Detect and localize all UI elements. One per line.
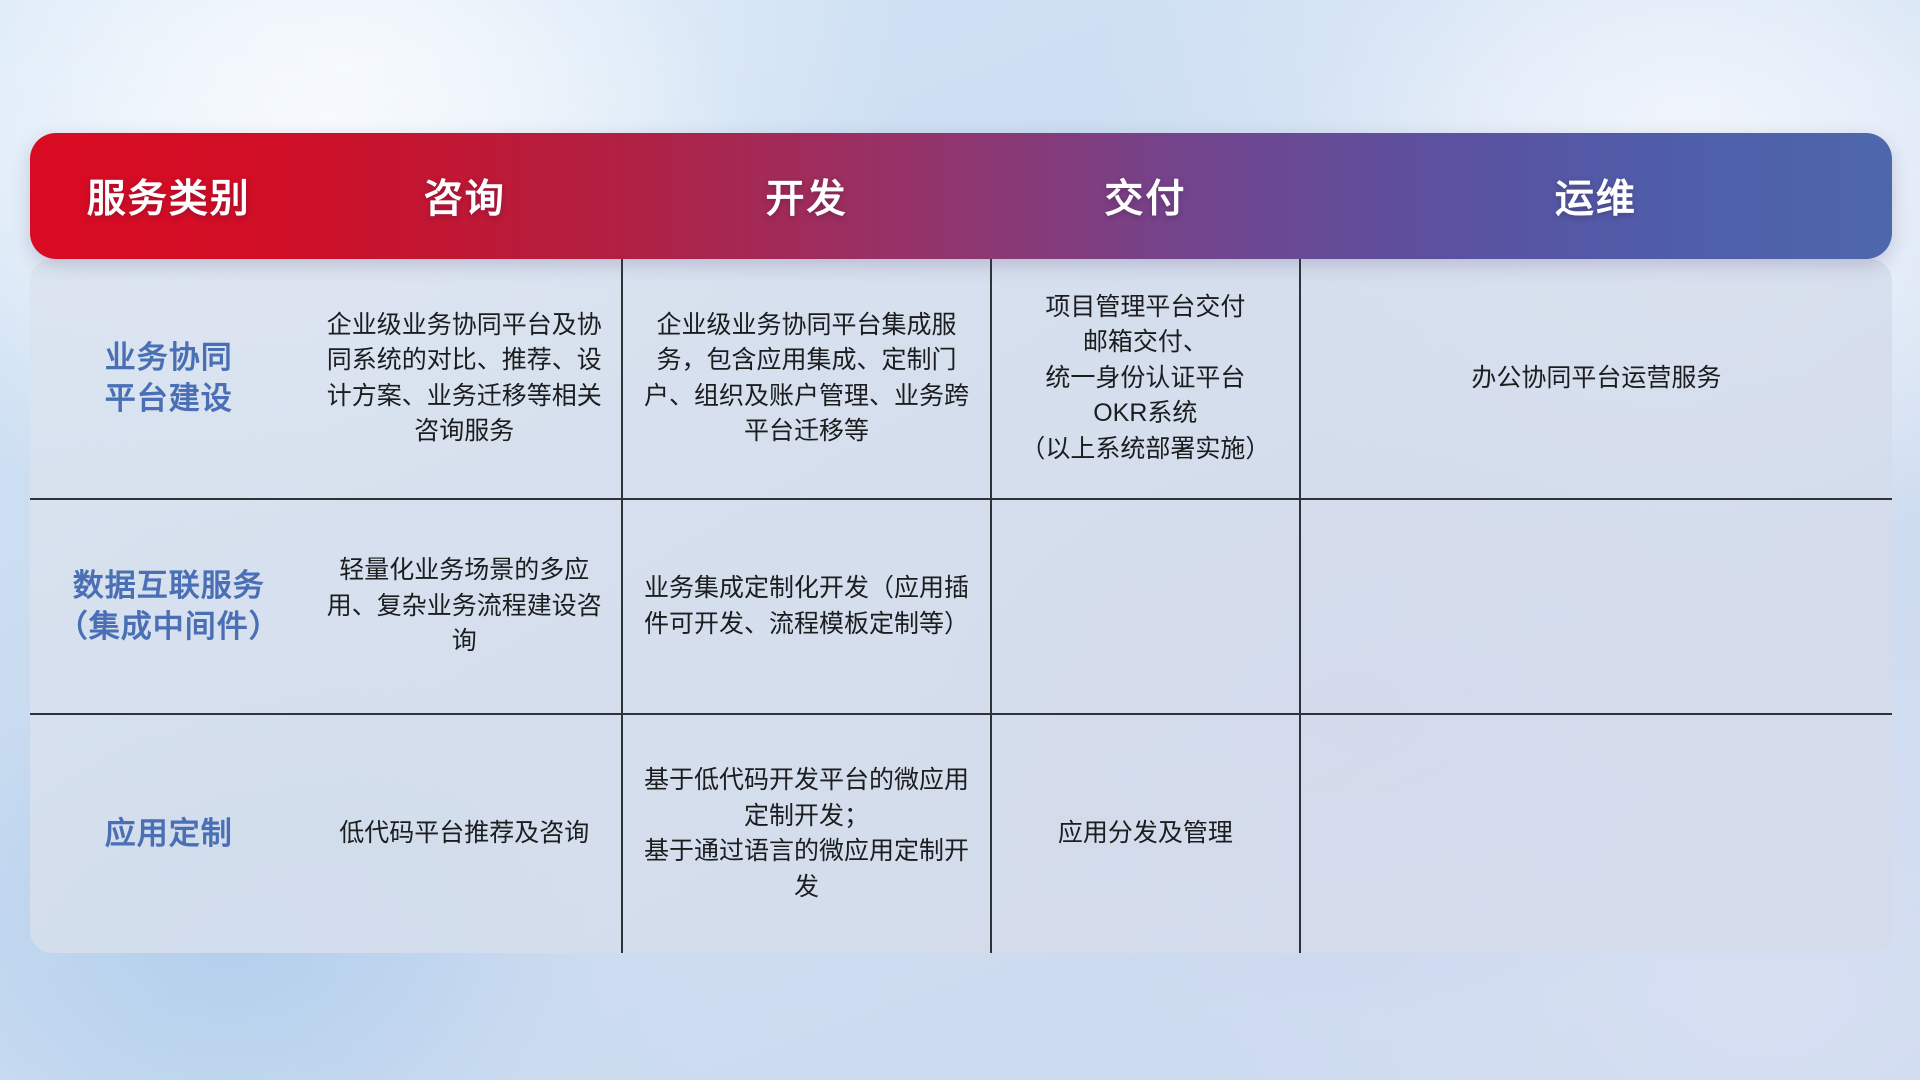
cell-delivery: 项目管理平台交付 邮箱交付、 统一身份认证平台 OKR系统 （以上系统部署实施） bbox=[991, 259, 1300, 499]
table-row: 业务协同 平台建设 企业级业务协同平台及协同系统的对比、推荐、设计方案、业务迁移… bbox=[30, 259, 1892, 499]
cell-development: 企业级业务协同平台集成服务，包含应用集成、定制门户、组织及账户管理、业务跨平台迁… bbox=[622, 259, 991, 499]
delivery-line: OKR系统 bbox=[1008, 396, 1283, 432]
column-header-operations: 运维 bbox=[1300, 133, 1892, 259]
table-row: 数据互联服务 （集成中间件） 轻量化业务场景的多应用、复杂业务流程建设咨询 业务… bbox=[30, 499, 1892, 714]
category-line: 业务协同 bbox=[46, 338, 291, 379]
cell-operations bbox=[1300, 714, 1892, 953]
cell-consulting: 企业级业务协同平台及协同系统的对比、推荐、设计方案、业务迁移等相关咨询服务 bbox=[307, 259, 622, 499]
service-matrix-table: 服务类别 咨询 开发 交付 运维 业务协同 平台建设 企业级业务协同平台及协同系… bbox=[30, 133, 1892, 953]
cell-operations bbox=[1300, 499, 1892, 714]
delivery-line: 项目管理平台交付 bbox=[1008, 290, 1283, 326]
cell-development: 基于低代码开发平台的微应用定制开发； 基于通过语言的微应用定制开发 bbox=[622, 714, 991, 953]
development-line: 基于低代码开发平台的微应用定制开发； bbox=[639, 763, 974, 834]
cell-operations: 办公协同平台运营服务 bbox=[1300, 259, 1892, 499]
category-line: （集成中间件） bbox=[46, 607, 291, 648]
row-category-label: 业务协同 平台建设 bbox=[30, 259, 307, 499]
service-matrix-panel: 服务类别 咨询 开发 交付 运维 业务协同 平台建设 企业级业务协同平台及协同系… bbox=[30, 133, 1892, 953]
table-header-row: 服务类别 咨询 开发 交付 运维 bbox=[30, 133, 1892, 259]
table-row: 应用定制 低代码平台推荐及咨询 基于低代码开发平台的微应用定制开发； 基于通过语… bbox=[30, 714, 1892, 953]
cell-delivery bbox=[991, 499, 1300, 714]
delivery-line: 应用分发及管理 bbox=[1008, 816, 1283, 852]
column-header-consulting: 咨询 bbox=[307, 133, 622, 259]
cell-development: 业务集成定制化开发（应用插件可开发、流程模板定制等） bbox=[622, 499, 991, 714]
development-line: 基于通过语言的微应用定制开发 bbox=[639, 834, 974, 905]
column-header-delivery: 交付 bbox=[991, 133, 1300, 259]
column-header-category: 服务类别 bbox=[30, 133, 307, 259]
cell-consulting: 低代码平台推荐及咨询 bbox=[307, 714, 622, 953]
table-body: 业务协同 平台建设 企业级业务协同平台及协同系统的对比、推荐、设计方案、业务迁移… bbox=[30, 259, 1892, 953]
category-line: 应用定制 bbox=[46, 814, 291, 855]
column-header-development: 开发 bbox=[622, 133, 991, 259]
row-category-label: 数据互联服务 （集成中间件） bbox=[30, 499, 307, 714]
delivery-line: 邮箱交付、 bbox=[1008, 325, 1283, 361]
delivery-line: （以上系统部署实施） bbox=[1008, 432, 1283, 468]
delivery-line: 统一身份认证平台 bbox=[1008, 361, 1283, 397]
cell-delivery: 应用分发及管理 bbox=[991, 714, 1300, 953]
row-category-label: 应用定制 bbox=[30, 714, 307, 953]
category-line: 数据互联服务 bbox=[46, 566, 291, 607]
table-header: 服务类别 咨询 开发 交付 运维 bbox=[30, 133, 1892, 259]
cell-consulting: 轻量化业务场景的多应用、复杂业务流程建设咨询 bbox=[307, 499, 622, 714]
category-line: 平台建设 bbox=[46, 379, 291, 420]
